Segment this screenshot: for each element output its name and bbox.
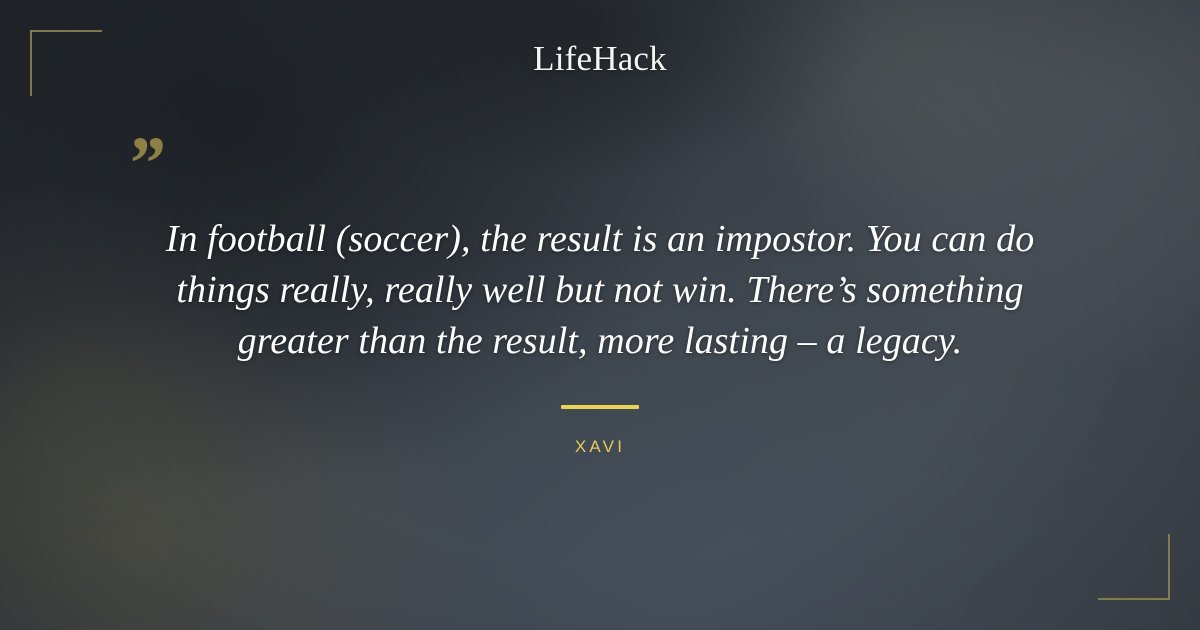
attribution-block: XAVI	[0, 405, 1200, 457]
quote-line: things really, really well but not win. …	[100, 265, 1100, 316]
quote-text: In football (soccer), the result is an i…	[100, 214, 1100, 367]
quotation-mark-icon: ”	[126, 126, 164, 202]
corner-bracket-horizontal-line	[30, 30, 102, 32]
corner-bracket-bottom-right-icon	[1098, 534, 1170, 600]
quote-card: LifeHack ” In football (soccer), the res…	[0, 0, 1200, 630]
attribution-author: XAVI	[0, 437, 1200, 457]
quote-line: In football (soccer), the result is an i…	[100, 214, 1100, 265]
corner-bracket-vertical-line	[1168, 534, 1170, 600]
corner-bracket-horizontal-line	[1098, 598, 1170, 600]
brand-logo: LifeHack	[0, 41, 1200, 76]
attribution-divider	[561, 405, 639, 409]
quote-line: greater than the result, more lasting – …	[100, 316, 1100, 367]
